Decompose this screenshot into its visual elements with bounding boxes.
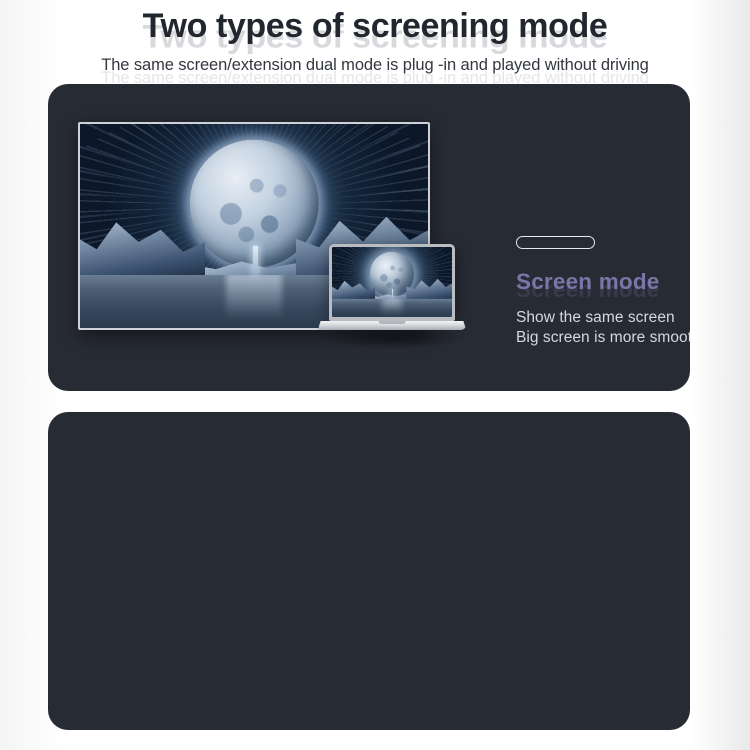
page-root: Two types of screening mode Two types of… [0, 0, 750, 750]
mode-description-screen-mode: Show the same screen Big screen is more … [516, 308, 690, 348]
moon-scene-artwork-mirrored [332, 247, 452, 317]
page-header: Two types of screening mode Two types of… [0, 0, 750, 76]
laptop-floor-shadow [321, 327, 466, 349]
mode-description-line: Big screen is more smooth [516, 328, 690, 348]
mode-description-line: Show the same screen [516, 308, 690, 328]
tower-silhouette [392, 289, 394, 298]
lake-layer [332, 298, 452, 317]
page-title: Two types of screening mode [0, 4, 750, 48]
laptop-display-screen-mode [329, 244, 455, 330]
title-wrapper: Two types of screening mode Two types of… [0, 4, 750, 50]
mode-title-wrapper: Screen mode Screen mode [516, 268, 690, 298]
tower-silhouette [253, 246, 259, 273]
card-extended-mode: Extended mode Extended mode Display diff… [48, 412, 690, 730]
text-block-screen-mode: Screen mode Screen mode Show the same sc… [516, 236, 690, 348]
mode-title-screen-mode: Screen mode [516, 268, 690, 296]
laptop-base [318, 321, 467, 330]
capsule-outline-icon [516, 236, 595, 249]
laptop-lid [329, 244, 455, 321]
card-screen-mode: Screen mode Screen mode Show the same sc… [48, 84, 690, 391]
laptop-screen-content-moon [332, 247, 452, 317]
laptop-trackpad-notch [379, 321, 406, 324]
